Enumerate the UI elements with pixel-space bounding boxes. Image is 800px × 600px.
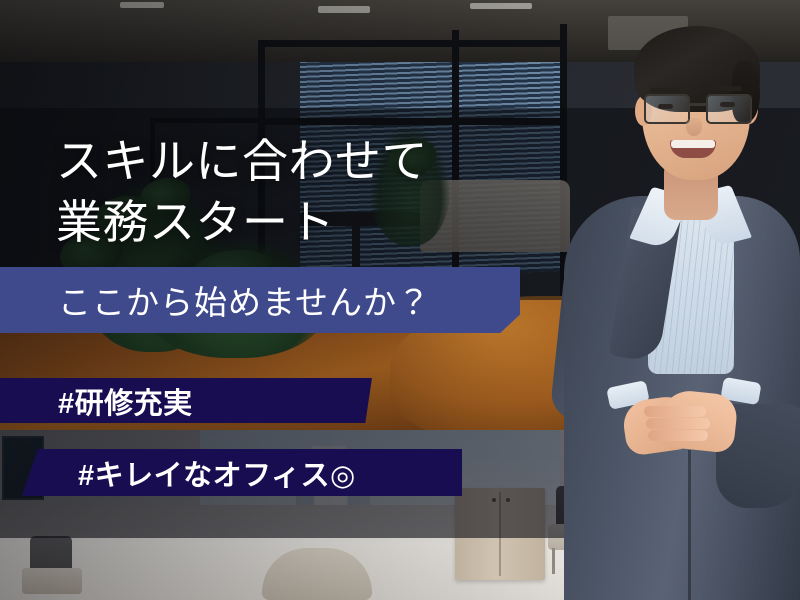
eyeglass-lens-left	[644, 94, 690, 124]
subtitle-text: ここから始めませんか？	[0, 276, 431, 324]
lounge-chair-seat	[22, 568, 82, 594]
trousers	[606, 440, 786, 600]
ceiling-light-icon	[120, 2, 164, 8]
eyebrow-left	[650, 88, 680, 93]
subtitle-band: ここから始めませんか？	[0, 267, 520, 333]
eyeglass-bridge	[686, 103, 708, 106]
eyebrow-right	[712, 86, 742, 91]
hashtag-label-training: #研修充実	[0, 380, 193, 422]
trouser-seam	[688, 450, 691, 600]
eyeglass-lens-right	[706, 94, 752, 124]
hashtag-band-training: #研修充実	[0, 378, 372, 423]
eye-right	[720, 102, 735, 107]
glass-partition-frame	[258, 118, 564, 125]
recruitment-banner: スキルに合わせて 業務スタート ここから始めませんか？ #研修充実 #キレイなオ…	[0, 0, 800, 600]
nose	[686, 118, 702, 136]
person-photo	[536, 0, 800, 600]
cabinet-door-seam	[499, 492, 501, 576]
finger	[644, 406, 706, 417]
glass-partition-frame	[258, 40, 564, 47]
finger	[648, 430, 708, 441]
ceiling-light-icon	[470, 3, 532, 9]
ceiling-light-icon	[318, 6, 370, 13]
cabinet-handle-icon	[492, 498, 496, 502]
finger	[646, 418, 710, 429]
teeth	[671, 140, 715, 148]
eye-left	[658, 104, 673, 109]
hashtag-label-office: #キレイなオフィス◎	[22, 452, 356, 494]
headline: スキルに合わせて 業務スタート	[56, 131, 576, 252]
hashtag-band-office: #キレイなオフィス◎	[22, 449, 462, 496]
cabinet-handle-icon	[506, 498, 510, 502]
mouth	[670, 140, 716, 158]
glass-partition-frame	[150, 118, 262, 123]
